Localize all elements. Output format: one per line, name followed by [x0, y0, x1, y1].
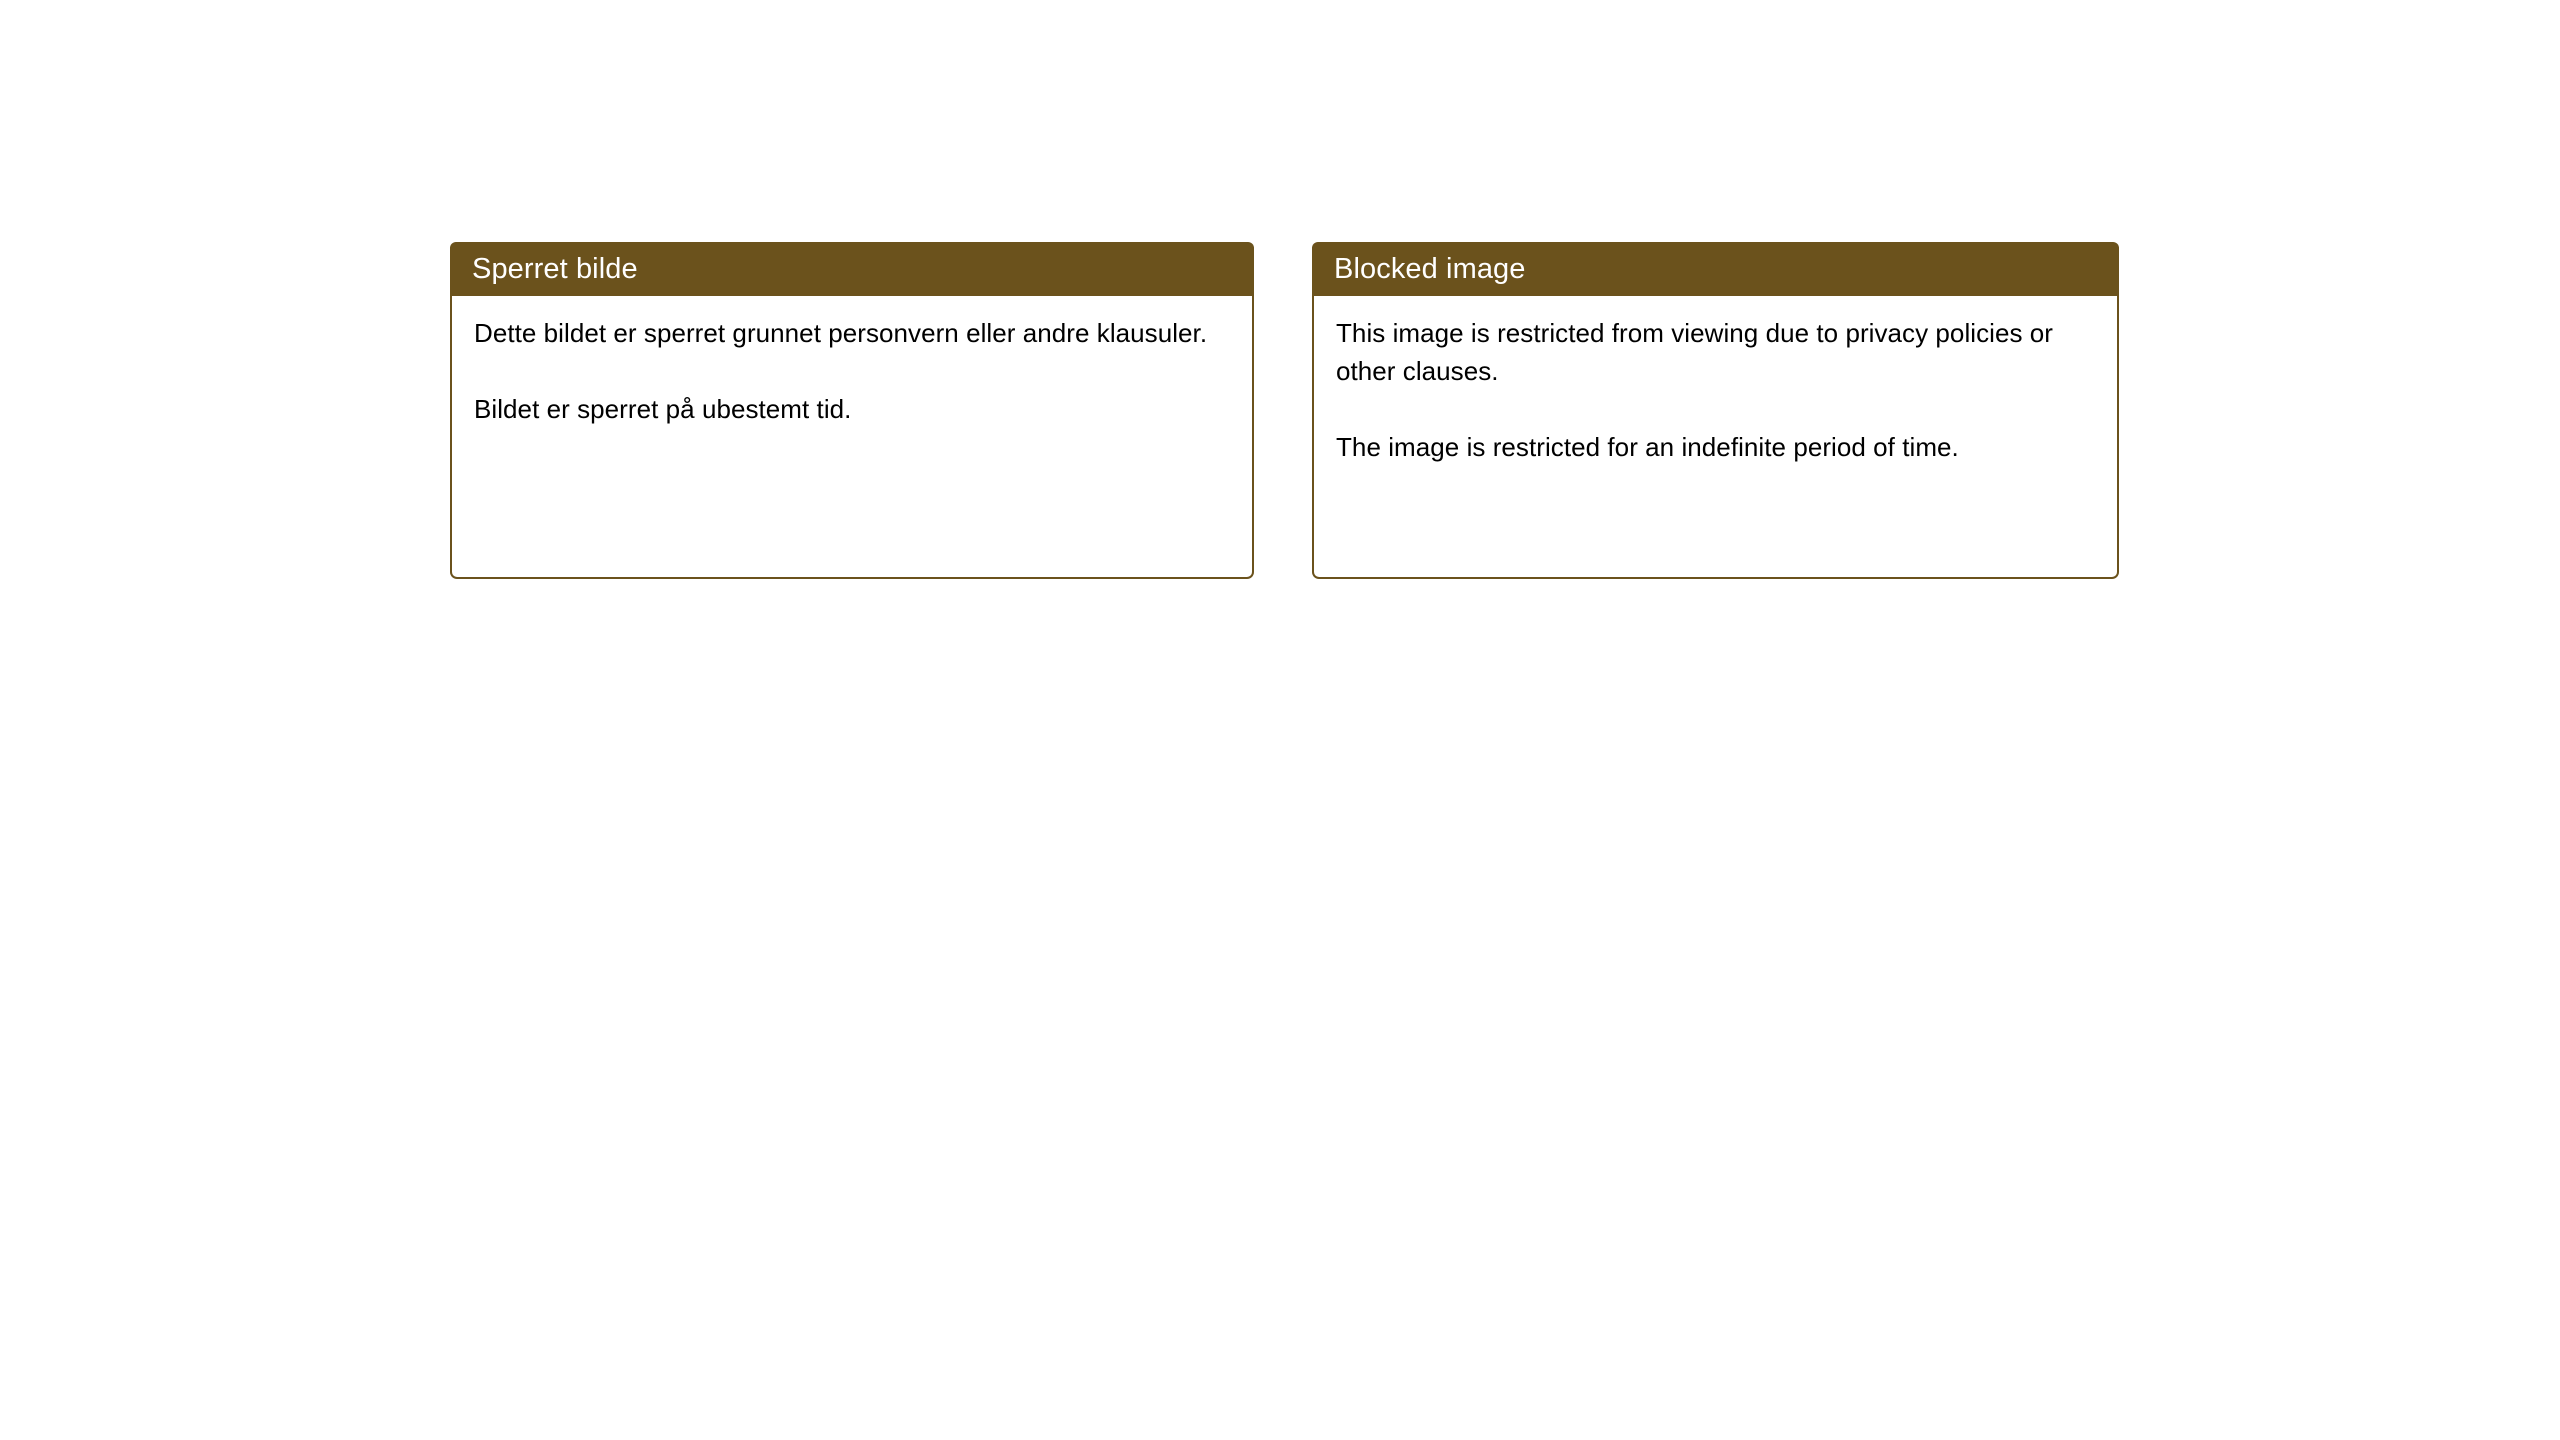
- page-canvas: Sperret bilde Dette bildet er sperret gr…: [0, 0, 2560, 1440]
- notice-paragraph-restriction-duration-norwegian: Bildet er sperret på ubestemt tid.: [474, 390, 1232, 428]
- blocked-image-notice-panel-norwegian: Sperret bilde Dette bildet er sperret gr…: [450, 242, 1254, 579]
- panel-header-english: Blocked image: [1312, 242, 2119, 296]
- panel-body-english: This image is restricted from viewing du…: [1312, 296, 2119, 579]
- blocked-image-notice-panel-english: Blocked image This image is restricted f…: [1312, 242, 2119, 579]
- panel-title-norwegian: Sperret bilde: [472, 255, 638, 284]
- notice-paragraph-restriction-reason-norwegian: Dette bildet er sperret grunnet personve…: [474, 314, 1232, 352]
- panel-title-english: Blocked image: [1334, 255, 1526, 284]
- notice-paragraph-restriction-reason-english: This image is restricted from viewing du…: [1336, 314, 2097, 390]
- notice-paragraph-restriction-duration-english: The image is restricted for an indefinit…: [1336, 428, 2097, 466]
- panel-body-norwegian: Dette bildet er sperret grunnet personve…: [450, 296, 1254, 579]
- panel-header-norwegian: Sperret bilde: [450, 242, 1254, 296]
